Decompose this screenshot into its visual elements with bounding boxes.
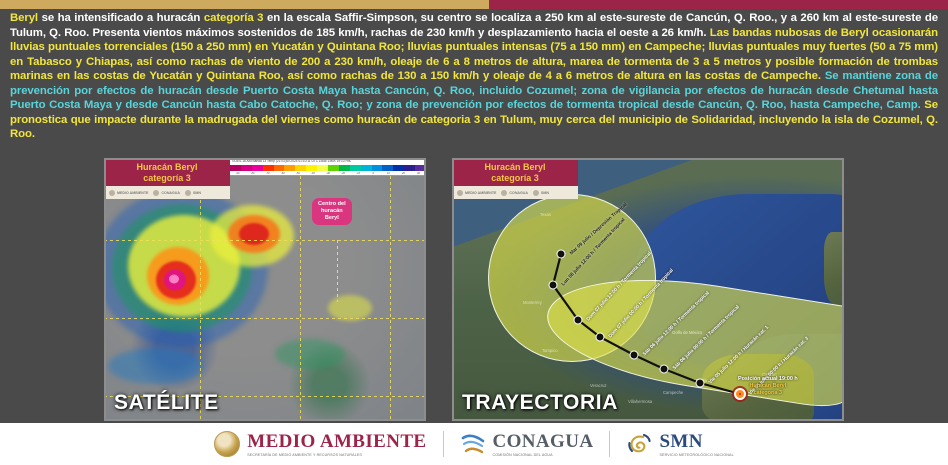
scale-tick-2: -70 (260, 171, 275, 176)
logo-conagua-mini-2: CONAGUA (501, 190, 528, 196)
scale-tick-0: -90 (230, 171, 245, 176)
logo-conagua-subtitle: COMISIÓN NACIONAL DEL AGUA (493, 453, 594, 457)
track-point-5[interactable] (660, 365, 669, 374)
logo-medio-ambiente-mini-2: MEDIO AMBIENTE (457, 190, 496, 196)
mexican-eagle-seal-icon (214, 431, 240, 457)
logo-conagua-name: CONAGUA (493, 432, 594, 452)
satellite-badge-line-1: Huracán Beryl (136, 162, 197, 172)
current-position-line-2: Huracán Beryl (738, 383, 798, 390)
scale-header-text: GOES-16 ABI Banda 13 Temp (21:03 juil 20… (230, 158, 426, 165)
logo-smn-subtitle: SERVICIO METEOROLÓGICO NACIONAL (659, 453, 733, 457)
logo-smn-mini-2: SMN (533, 190, 549, 196)
satellite-logo-strip: MEDIO AMBIENTE CONAGUA SMN (104, 186, 230, 199)
callout-line-1: Centro del (318, 201, 346, 208)
center-callout-pointer (337, 240, 338, 302)
scale-tick-11: 20 (396, 171, 411, 176)
track-point-0[interactable] (557, 250, 566, 259)
logo-conagua-mini: CONAGUA (153, 190, 180, 196)
scale-tick-3: -60 (275, 171, 290, 176)
logo-medio-ambiente-mini: MEDIO AMBIENTE (109, 190, 148, 196)
track-point-2[interactable] (574, 316, 583, 325)
trajectory-caption: TRAYECTORIA (462, 391, 618, 415)
scale-tick-4: -50 (290, 171, 305, 176)
smn-spiral-icon (626, 431, 652, 457)
bulletin-segment-1: se ha intensificado a huracán (38, 12, 204, 24)
trajectory-badge-line-1: Huracán Beryl (484, 162, 545, 172)
conagua-wave-icon (460, 431, 486, 457)
bulletin-text: Beryl se ha intensificado a huracán cate… (10, 11, 938, 142)
scale-tick-9: 0 (366, 171, 381, 176)
track-point-4[interactable] (630, 351, 639, 360)
track-point-3[interactable] (596, 333, 605, 342)
scale-tick-8: -10 (351, 171, 366, 176)
accent-bar-gold (0, 0, 489, 9)
trajectory-panel[interactable]: Mar 09 julio / Depresión TropicalLun 08 … (452, 158, 844, 421)
logo-smn: SMN SERVICIO METEOROLÓGICO NACIONAL (626, 431, 733, 457)
bulletin-segment-2: categoría 3 (204, 12, 264, 24)
scale-tick-1: -80 (245, 171, 260, 176)
satellite-panel[interactable]: Centro del huracán Beryl GOES-16 ABI Ban… (104, 158, 426, 421)
satellite-caption: SATÉLITE (114, 391, 219, 415)
bulletin-page: Beryl se ha intensificado a huracán cate… (0, 0, 948, 465)
scale-tick-labels: -90-80-70-60-50-40-30-20-100102030 (230, 171, 426, 176)
scale-tick-7: -20 (336, 171, 351, 176)
logo-medio-ambiente-subtitle: SECRETARÍA DE MEDIO AMBIENTE Y RECURSOS … (247, 453, 426, 457)
footer-divider-2 (609, 431, 610, 457)
logo-medio-ambiente-name: MEDIO AMBIENTE (247, 432, 426, 452)
logo-smn-name: SMN (659, 432, 733, 452)
current-position-label: Posición actual 19:00 h Huracán Beryl ca… (738, 376, 798, 397)
trajectory-badge: Huracán Beryl categoría 3 (452, 158, 578, 187)
logo-conagua: CONAGUA COMISIÓN NACIONAL DEL AGUA (460, 431, 594, 457)
accent-bar-crimson (489, 0, 948, 9)
bulletin-segment-0: Beryl (10, 12, 38, 24)
callout-line-3: Beryl (318, 215, 346, 222)
track-point-6[interactable] (696, 379, 705, 388)
satellite-badge-line-2: categoría 3 (112, 173, 222, 184)
satellite-badge: Huracán Beryl categoría 3 (104, 158, 230, 187)
footer-logo-bar: MEDIO AMBIENTE SECRETARÍA DE MEDIO AMBIE… (0, 423, 948, 465)
callout-line-2: huracán (318, 208, 346, 215)
scale-tick-12: 30 (411, 171, 426, 176)
scale-tick-5: -40 (305, 171, 320, 176)
satellite-color-scale: GOES-16 ABI Banda 13 Temp (21:03 juil 20… (230, 158, 426, 176)
logo-medio-ambiente: MEDIO AMBIENTE SECRETARÍA DE MEDIO AMBIE… (214, 431, 426, 457)
track-point-1[interactable] (549, 281, 558, 290)
top-accent-bars (0, 0, 948, 9)
storm-center-callout: Centro del huracán Beryl (312, 198, 352, 225)
scale-tick-6: -30 (320, 171, 335, 176)
trajectory-badge-line-2: categoría 3 (460, 173, 570, 184)
current-position-line-1: Posición actual 19:00 h (738, 376, 798, 383)
trajectory-logo-strip: MEDIO AMBIENTE CONAGUA SMN (452, 186, 578, 199)
footer-divider-1 (443, 431, 444, 457)
scale-tick-10: 10 (381, 171, 396, 176)
current-position-line-3: categoría 3 (738, 390, 798, 397)
logo-smn-mini: SMN (185, 190, 201, 196)
